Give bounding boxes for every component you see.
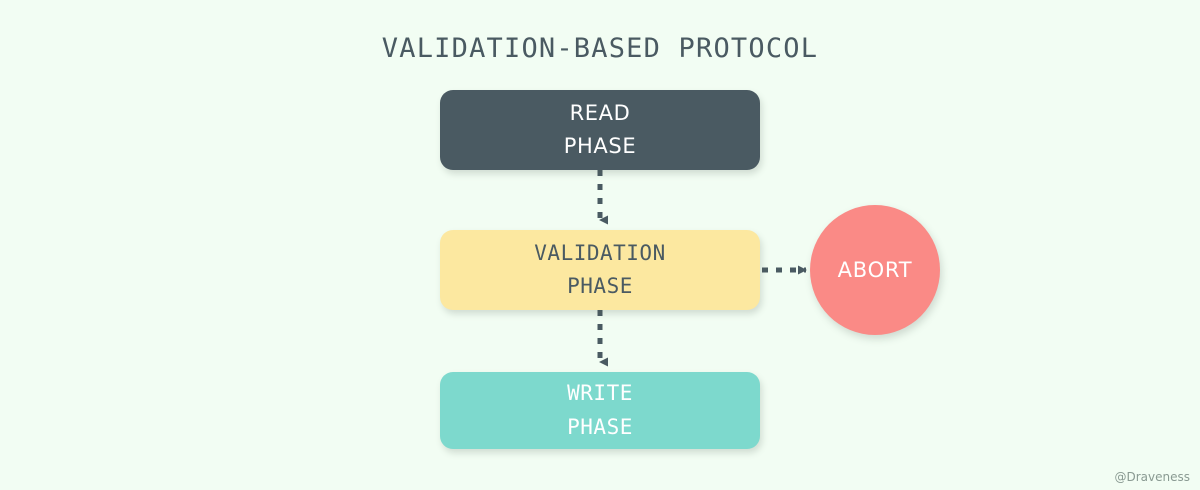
page-title: VALIDATION-BASED PROTOCOL — [0, 33, 1200, 64]
diagram-canvas: VALIDATION-BASED PROTOCOL READ PHASE VAL… — [0, 0, 1200, 490]
node-validation-phase-line2: PHASE — [567, 270, 633, 303]
node-read-phase-line1: READ — [570, 97, 631, 130]
node-write-phase-line2: PHASE — [567, 411, 633, 444]
node-write-phase[interactable]: WRITE PHASE — [440, 372, 760, 449]
node-abort[interactable]: ABORT — [810, 205, 940, 335]
node-write-phase-line1: WRITE — [567, 377, 633, 410]
node-abort-label: ABORT — [838, 258, 913, 282]
node-validation-phase-line1: VALIDATION — [534, 237, 665, 270]
node-read-phase[interactable]: READ PHASE — [440, 90, 760, 170]
node-validation-phase[interactable]: VALIDATION PHASE — [440, 230, 760, 310]
watermark: @Draveness — [1114, 470, 1190, 484]
node-read-phase-line2: PHASE — [564, 130, 636, 163]
